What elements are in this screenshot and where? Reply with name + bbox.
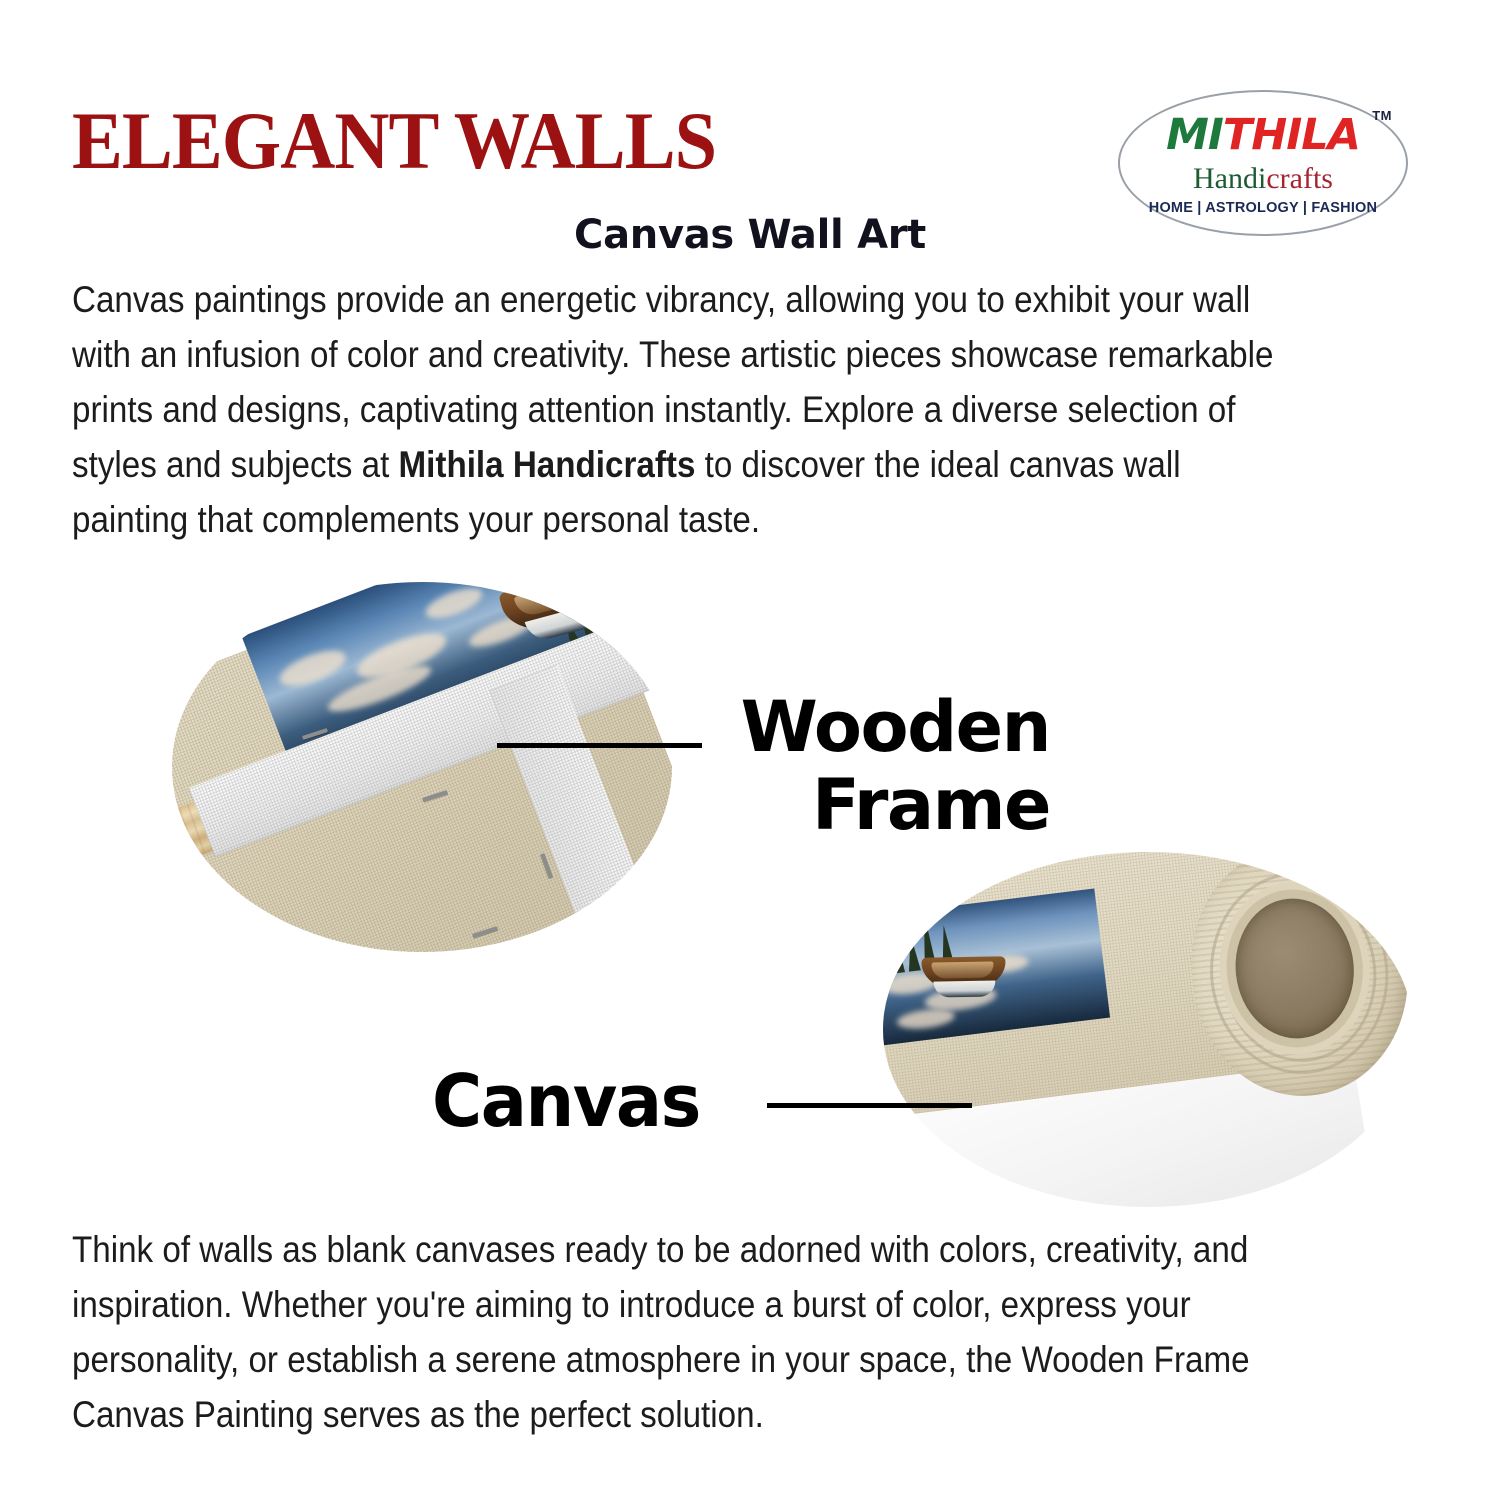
canvas-roll-photo	[883, 852, 1413, 1207]
page-title: ELEGANT WALLS	[72, 100, 716, 182]
trademark-icon: TM	[1372, 108, 1392, 123]
logo-brand-name-green: MI	[1166, 110, 1223, 160]
callout-canvas: Canvas	[432, 1065, 700, 1137]
callout-wooden-frame-line1: Wooden	[700, 688, 1050, 766]
infographic-page: ELEGANT WALLS MITHILA TM Handicrafts HOM…	[0, 0, 1500, 1500]
logo-sub-name-red: crafts	[1266, 162, 1333, 195]
logo-sub-name: Handicrafts	[1118, 164, 1408, 194]
wooden-frame-photo	[172, 582, 672, 952]
intro-brand-highlight: Mithila Handicrafts	[399, 443, 696, 485]
callout-wooden-frame: Wooden Frame	[700, 688, 1050, 844]
logo-brand-name-red: THILA	[1223, 110, 1360, 160]
logo-brand-name: MITHILA	[1118, 114, 1408, 157]
callout-wooden-frame-line2: Frame	[700, 766, 1050, 844]
leader-line-canvas	[767, 1103, 972, 1108]
page-subtitle: Canvas Wall Art	[0, 212, 1500, 258]
outro-paragraph: Think of walls as blank canvases ready t…	[72, 1222, 1284, 1442]
leader-line-wooden-frame	[497, 743, 702, 748]
intro-paragraph: Canvas paintings provide an energetic vi…	[72, 272, 1284, 547]
logo-sub-name-green: Handi	[1193, 162, 1266, 195]
